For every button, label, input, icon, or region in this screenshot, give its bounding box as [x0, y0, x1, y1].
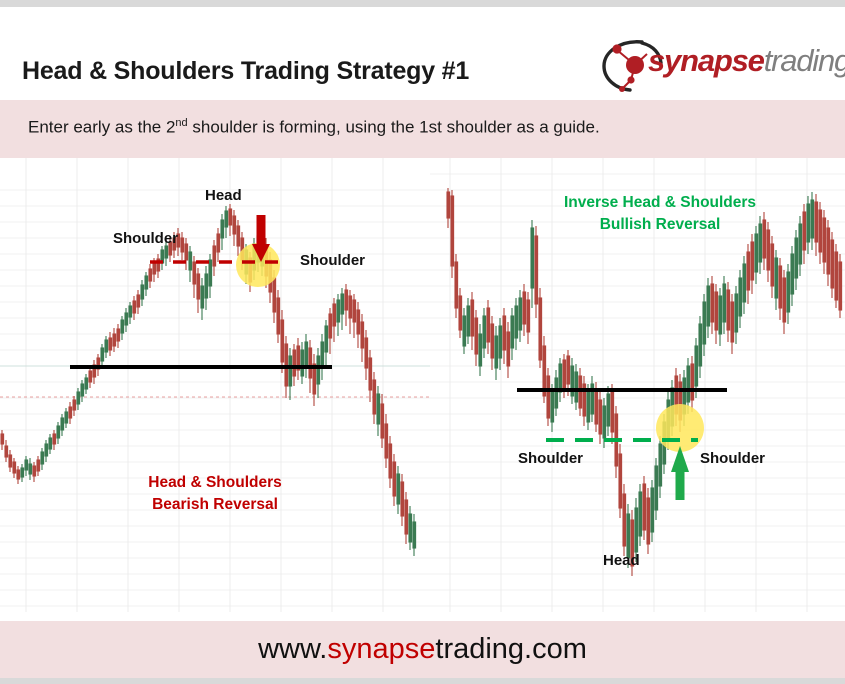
subtitle-text: Enter early as the 2nd shoulder is formi… — [28, 117, 600, 138]
slide-root: Head & Shoulders Trading Strategy #1 syn… — [0, 0, 845, 684]
footer-spacer — [0, 612, 845, 621]
caption-bullish-reversal: Inverse Head & Shoulders Bullish Reversa… — [535, 192, 785, 237]
caption-bearish-line1: Head & Shoulders — [130, 472, 300, 494]
caption-bullish-line2: Bullish Reversal — [535, 214, 785, 236]
url-suffix: trading.com — [435, 633, 587, 665]
label-shoulder-left-chart-left: Shoulder — [113, 230, 178, 247]
footer: www.synapsetrading.com — [0, 621, 845, 678]
charts-area: Shoulder Head Shoulder Head & Shoulders … — [0, 158, 845, 612]
header: Head & Shoulders Trading Strategy #1 syn… — [0, 7, 845, 100]
label-shoulder-left-chart-right: Shoulder — [518, 450, 583, 467]
label-shoulder-right-chart-left: Shoulder — [300, 252, 365, 269]
entry-highlight-circle-right — [656, 404, 704, 452]
label-head-chart-right: Head — [603, 552, 640, 569]
caption-bearish-reversal: Head & Shoulders Bearish Reversal — [130, 472, 300, 517]
page-title: Head & Shoulders Trading Strategy #1 — [22, 57, 469, 86]
footer-website-url[interactable]: www.synapsetrading.com — [0, 633, 845, 666]
subtitle-suffix: shoulder is forming, using the 1st shoul… — [188, 118, 600, 137]
logo-wordmark: synapsetrading — [648, 43, 845, 79]
chart-annotations-left — [0, 158, 430, 612]
chart-head-and-shoulders-bearish[interactable]: Shoulder Head Shoulder Head & Shoulders … — [0, 158, 430, 612]
url-brand: synapse — [327, 633, 435, 665]
chart-inverse-head-and-shoulders-bullish[interactable]: Inverse Head & Shoulders Bullish Reversa… — [430, 158, 845, 612]
subtitle-ordinal-suffix: nd — [175, 117, 187, 129]
logo-word-secondary: trading — [764, 43, 845, 78]
caption-bullish-line1: Inverse Head & Shoulders — [535, 192, 785, 214]
caption-bearish-line2: Bearish Reversal — [130, 494, 300, 516]
url-prefix: www. — [258, 633, 327, 665]
label-head-chart-left: Head — [205, 187, 242, 204]
subtitle-prefix: Enter early as the 2 — [28, 118, 175, 137]
top-border-strip — [0, 0, 845, 7]
entry-arrow-up-right — [671, 446, 689, 500]
label-shoulder-right-chart-right: Shoulder — [700, 450, 765, 467]
bottom-border-strip — [0, 678, 845, 684]
subtitle-band: Enter early as the 2nd shoulder is formi… — [0, 100, 845, 158]
brand-logo[interactable]: synapsetrading — [598, 34, 838, 96]
logo-word-primary: synapse — [648, 43, 764, 78]
